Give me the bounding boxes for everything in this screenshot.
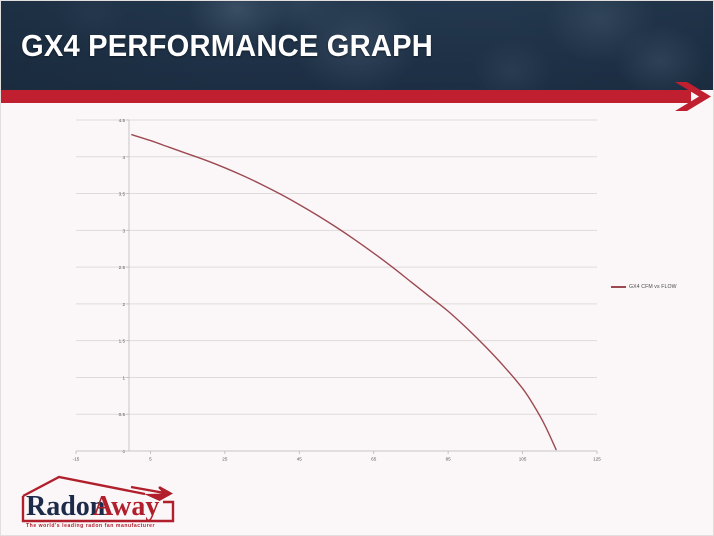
page-title: GX4 PERFORMANCE GRAPH <box>21 28 433 64</box>
y-axis-tick-label: 1 <box>122 375 125 380</box>
legend-label-series-0: GX4 CFM vs FLOW <box>629 284 677 290</box>
performance-chart: 00.511.522.533.544.5-15525456585105125 <box>1 104 714 474</box>
y-axis-tick-label: 0.5 <box>119 412 126 417</box>
accent-bar <box>1 90 691 103</box>
legend-swatch-series-0 <box>611 286 626 288</box>
x-axis-tick-label: 125 <box>593 457 601 462</box>
x-axis-tick-label: 65 <box>371 457 377 462</box>
x-axis-tick-label: 5 <box>149 457 152 462</box>
x-axis-tick-label: 85 <box>446 457 452 462</box>
x-axis-tick-label: -15 <box>73 457 80 462</box>
x-axis-tick-label: 105 <box>519 457 527 462</box>
x-axis-tick-label: 45 <box>297 457 303 462</box>
slide-header: GX4 PERFORMANCE GRAPH <box>1 1 714 90</box>
y-axis-tick-label: 3.5 <box>119 192 126 197</box>
logo-name-red: Away <box>93 491 159 522</box>
slide-canvas: GX4 PERFORMANCE GRAPH 00.511.522.533.544… <box>0 0 714 536</box>
y-axis-tick-label: 2.5 <box>119 265 126 270</box>
chart-legend: GX4 CFM vs FLOW <box>611 284 677 290</box>
logo-tagline: The world's leading radon fan manufactur… <box>26 523 155 529</box>
y-axis-tick-label: 4 <box>122 155 125 160</box>
x-axis-tick-label: 25 <box>222 457 228 462</box>
y-axis-tick-label: 2 <box>122 302 125 307</box>
chart-plot-area: 00.511.522.533.544.5-15525456585105125 <box>1 104 714 474</box>
chart-series-line-0 <box>132 135 556 450</box>
y-axis-tick-label: 1.5 <box>119 339 126 344</box>
y-axis-tick-label: 3 <box>122 228 125 233</box>
y-axis-tick-label: 4.5 <box>119 118 126 123</box>
radonaway-logo: Radon Away The world's leading radon fan… <box>13 475 188 529</box>
